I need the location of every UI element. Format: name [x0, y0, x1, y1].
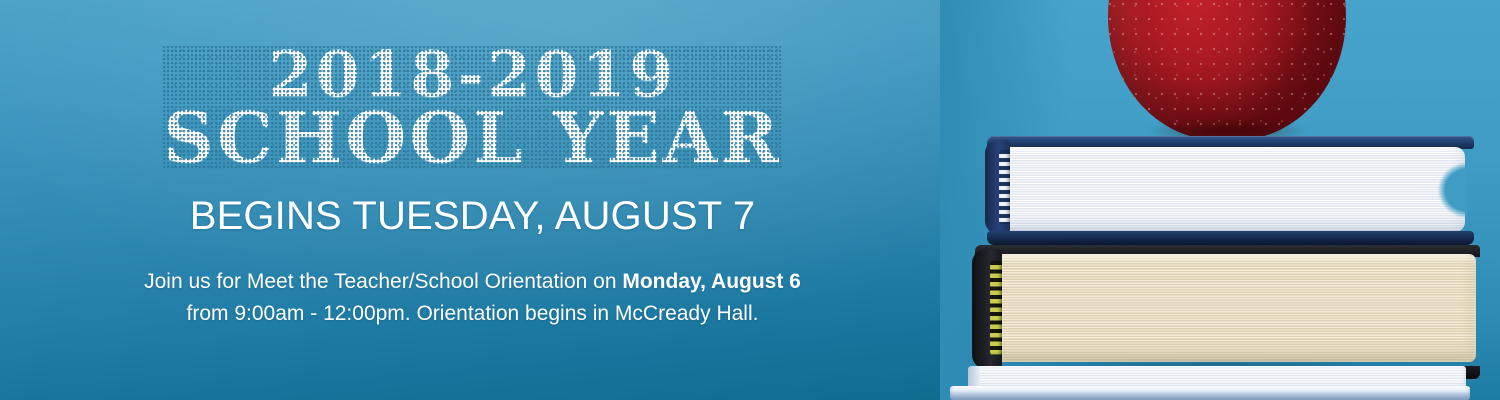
headline: 2018-2019 SCHOOL YEAR: [163, 46, 781, 170]
blue-paperback-book: [950, 386, 1470, 400]
navy-book-page-edges: [994, 147, 1465, 232]
dark-book-page-edges: [989, 254, 1476, 362]
navy-hardcover-book: [987, 136, 1474, 242]
body-copy: Join us for Meet the Teacher/School Orie…: [144, 266, 801, 329]
apple-on-books-photo: [940, 0, 1500, 400]
school-year-promo-banner: 2018-2019 SCHOOL YEAR BEGINS TUESDAY, AU…: [0, 0, 1500, 400]
navy-book-page-notch: [1421, 153, 1467, 227]
dark-book-headband: [990, 261, 1002, 355]
dark-hardcover-book: [975, 245, 1480, 375]
body-line-1-date: Monday, August 6: [622, 270, 801, 293]
banner-text-block: 2018-2019 SCHOOL YEAR BEGINS TUESDAY, AU…: [0, 0, 945, 400]
book-stack: [940, 0, 1500, 400]
body-line-2: from 9:00am - 12:00pm. Orientation begin…: [144, 298, 801, 330]
headline-line-2-text: SCHOOL YEAR: [163, 96, 781, 179]
body-line-1: Join us for Meet the Teacher/School Orie…: [144, 266, 801, 298]
body-line-1-prefix: Join us for Meet the Teacher/School Orie…: [144, 270, 622, 293]
headline-line-2: SCHOOL YEAR: [163, 106, 781, 170]
navy-book-headband: [999, 150, 1010, 224]
subtitle: BEGINS TUESDAY, AUGUST 7: [190, 196, 756, 236]
